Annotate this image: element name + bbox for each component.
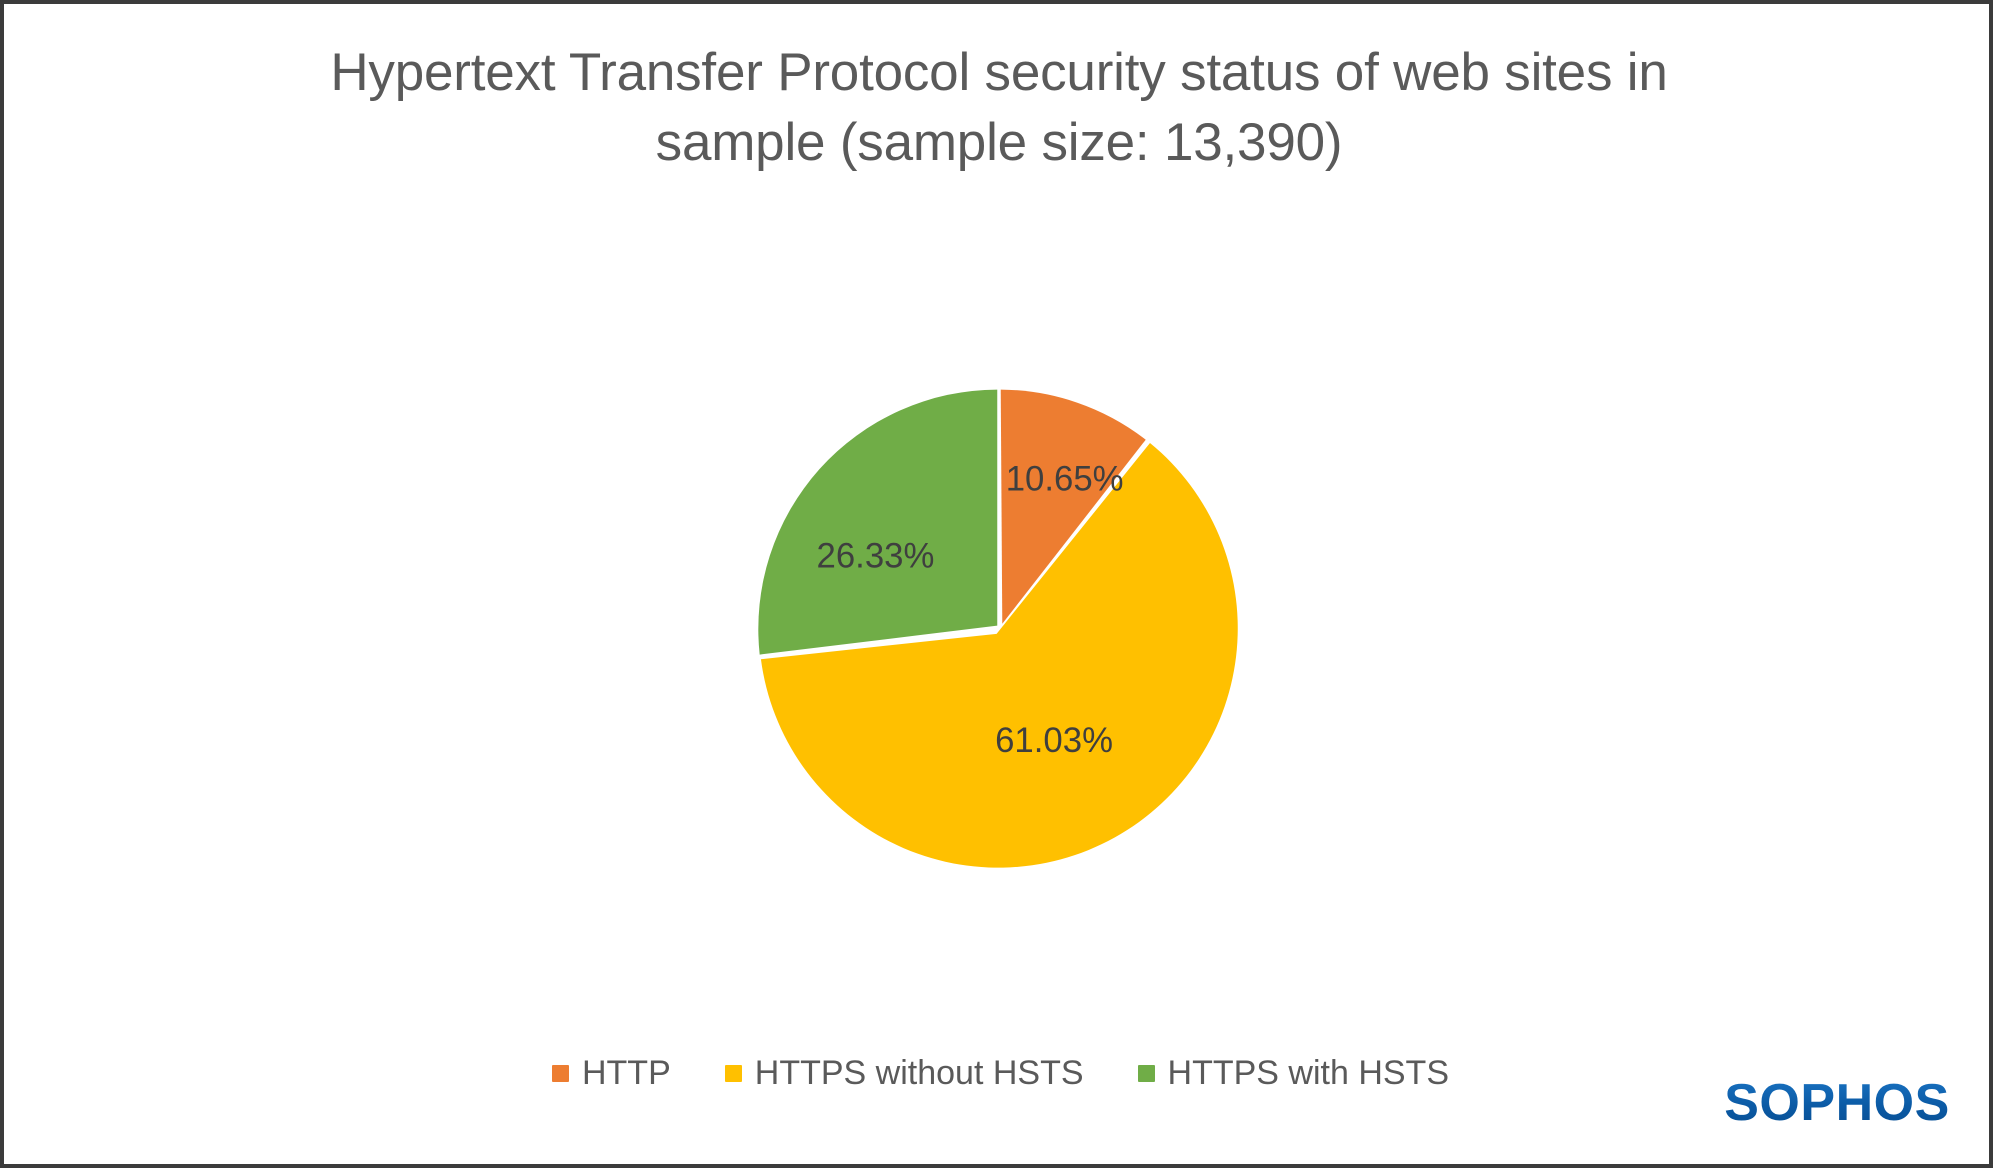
- legend-item-https-with-hsts[interactable]: HTTPS with HSTS: [1138, 1056, 1449, 1090]
- pie-slice-https-with-hsts[interactable]: [758, 390, 997, 655]
- sophos-logo-svg: SOPHOS: [1713, 1076, 1961, 1130]
- sophos-logo: SOPHOS: [1713, 1076, 1961, 1130]
- legend-label-https-without-hsts: HTTPS without HSTS: [755, 1056, 1084, 1090]
- legend-label-http: HTTP: [582, 1056, 671, 1090]
- pie-chart-svg: 10.65% 26.33% 61.03%: [748, 378, 1250, 880]
- pie-chart: 10.65% 26.33% 61.03%: [748, 378, 1250, 880]
- legend-label-https-with-hsts: HTTPS with HSTS: [1168, 1056, 1449, 1090]
- pie-label-https-with-hsts: 26.33%: [817, 538, 935, 576]
- chart-legend: HTTP HTTPS without HSTS HTTPS with HSTS: [4, 1056, 1993, 1090]
- legend-swatch-https-with-hsts: [1138, 1065, 1155, 1082]
- pie-label-https-without-hsts: 61.03%: [995, 722, 1113, 760]
- legend-item-https-without-hsts[interactable]: HTTPS without HSTS: [725, 1056, 1084, 1090]
- chart-title: Hypertext Transfer Protocol security sta…: [234, 38, 1764, 179]
- chart-title-line-1: Hypertext Transfer Protocol security sta…: [330, 43, 1667, 102]
- sophos-logo-text: SOPHOS: [1724, 1076, 1950, 1130]
- legend-swatch-https-without-hsts: [725, 1065, 742, 1082]
- pie-label-http: 10.65%: [1006, 460, 1124, 498]
- chart-title-line-2: sample (sample size: 13,390): [656, 113, 1343, 172]
- legend-item-http[interactable]: HTTP: [552, 1056, 671, 1090]
- legend-swatch-http: [552, 1065, 569, 1082]
- chart-canvas: Hypertext Transfer Protocol security sta…: [0, 0, 1993, 1168]
